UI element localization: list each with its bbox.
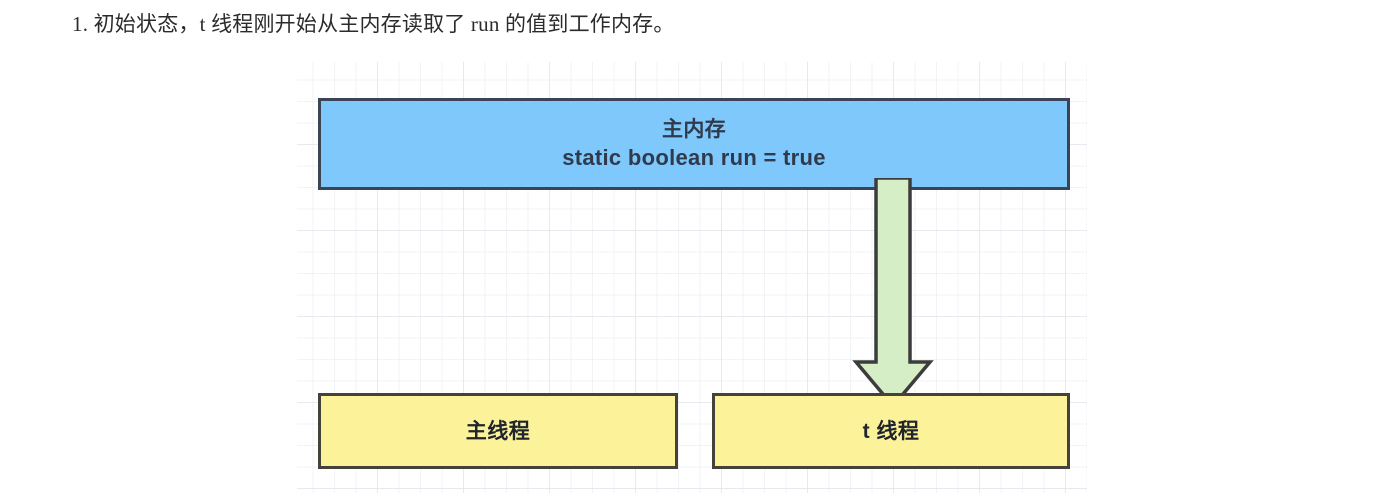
t-thread-label: t 线程 [863,418,920,445]
main-memory-title: 主内存 [662,116,726,143]
step-caption: 1. 初始状态，t 线程刚开始从主内存读取了 run 的值到工作内存。 [72,9,675,39]
arrow-polygon [856,178,930,406]
read-flow-arrow [848,178,938,410]
node-t-thread: t 线程 [712,393,1070,469]
main-thread-label: 主线程 [466,418,531,445]
main-memory-code: static boolean run = true [562,143,826,173]
diagram-canvas: 主内存 static boolean run = true 主线程 t 线程 [297,62,1087,493]
node-main-memory: 主内存 static boolean run = true [318,98,1070,190]
node-main-thread: 主线程 [318,393,678,469]
read-flow-arrow-shape [848,178,938,410]
